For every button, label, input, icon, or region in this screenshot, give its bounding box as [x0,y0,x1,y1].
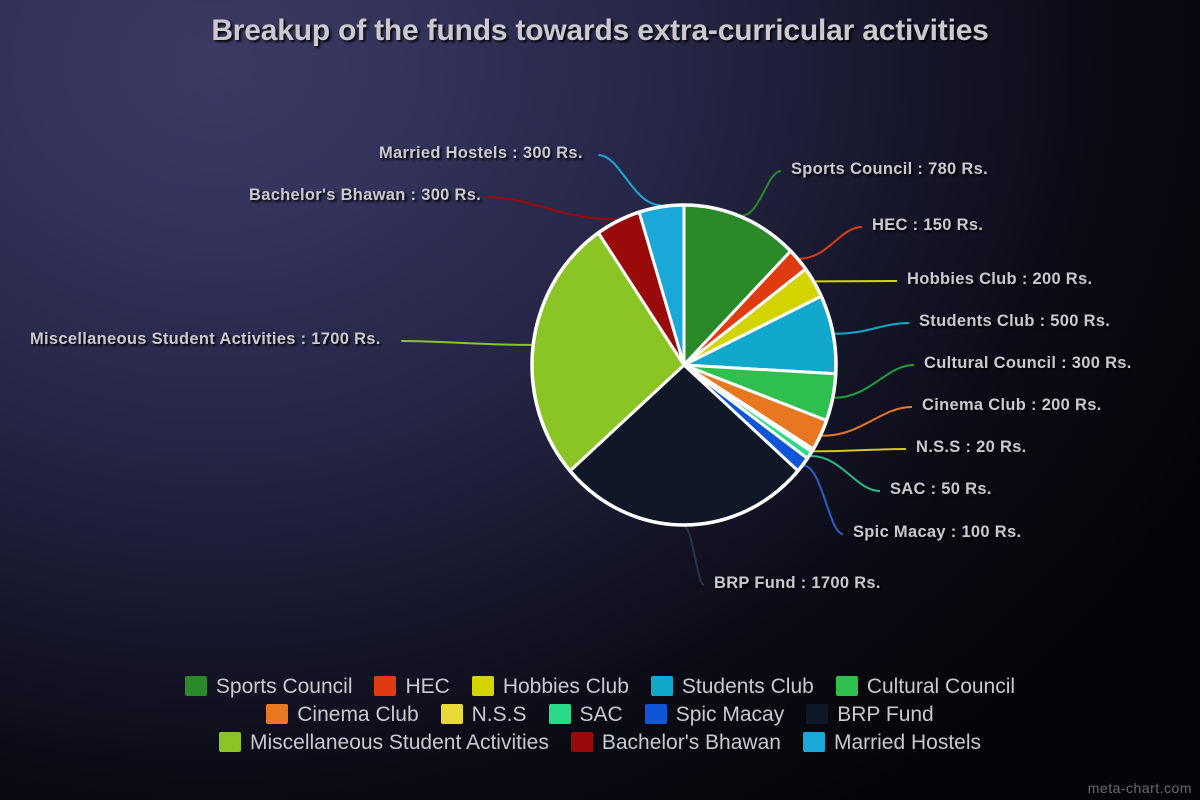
leader-line-sports-council [742,171,781,216]
legend-item-students-club[interactable]: Students Club [651,676,814,697]
legend-swatch-icon [441,704,463,724]
leader-line-cinema-club [822,407,912,436]
legend-item-brp-fund[interactable]: BRP Fund [806,704,934,725]
leader-line-bachelors-bhawan [485,197,617,219]
legend-item-married-hostels[interactable]: Married Hostels [803,732,981,753]
leader-line-cultural-council [834,365,914,398]
legend-item-label: Hobbies Club [503,676,629,697]
leader-line-students-club [835,323,909,334]
watermark: meta-chart.com [1088,780,1192,796]
legend-swatch-icon [645,704,667,724]
legend-item-label: Cultural Council [867,676,1015,697]
leader-line-sac [811,456,880,491]
legend-item-label: HEC [405,676,449,697]
data-label-bachelors-bhawan: Bachelor's Bhawan : 300 Rs. [249,186,481,205]
legend-item-sac[interactable]: SAC [549,704,623,725]
legend-row: Miscellaneous Student ActivitiesBachelor… [0,728,1200,756]
legend-item-label: Married Hostels [834,732,981,753]
legend-swatch-icon [219,732,241,752]
legend-item-label: Students Club [682,676,814,697]
legend-item-bachelor-s-bhawan[interactable]: Bachelor's Bhawan [571,732,781,753]
legend-item-sports-council[interactable]: Sports Council [185,676,353,697]
data-label-spic-macay: Spic Macay : 100 Rs. [853,523,1021,542]
legend-swatch-icon [803,732,825,752]
leader-line-nss [814,449,906,451]
legend-item-spic-macay[interactable]: Spic Macay [645,704,785,725]
legend-item-cinema-club[interactable]: Cinema Club [266,704,418,725]
leader-line-married-hostels [598,155,661,205]
legend-item-label: Bachelor's Bhawan [602,732,781,753]
leader-line-hec [800,227,862,259]
legend-item-label: SAC [580,704,623,725]
data-label-cinema-club: Cinema Club : 200 Rs. [922,396,1102,415]
legend-row: Cinema ClubN.S.SSACSpic MacayBRP Fund [0,700,1200,728]
data-label-hobbies-club: Hobbies Club : 200 Rs. [907,270,1092,289]
leader-line-misc-activities [401,341,531,345]
legend-swatch-icon [185,676,207,696]
legend-item-label: N.S.S [472,704,527,725]
data-label-cultural-council: Cultural Council : 300 Rs. [924,354,1132,373]
leader-line-spic-macay [804,466,843,534]
legend-swatch-icon [571,732,593,752]
legend-row: Sports CouncilHECHobbies ClubStudents Cl… [0,672,1200,700]
legend-item-label: Sports Council [216,676,353,697]
data-label-married-hostels: Married Hostels : 300 Rs. [379,144,583,163]
pie-chart-figure: Breakup of the funds towards extra-curri… [0,0,1200,800]
legend-swatch-icon [836,676,858,696]
legend-swatch-icon [266,704,288,724]
legend-swatch-icon [374,676,396,696]
data-label-hec: HEC : 150 Rs. [872,216,983,235]
data-label-brp-fund: BRP Fund : 1700 Rs. [714,574,881,593]
legend-item-n-s-s[interactable]: N.S.S [441,704,527,725]
legend-swatch-icon [472,676,494,696]
legend-item-label: Miscellaneous Student Activities [250,732,549,753]
data-label-sports-council: Sports Council : 780 Rs. [791,160,988,179]
legend-item-label: Spic Macay [676,704,785,725]
data-label-students-club: Students Club : 500 Rs. [919,312,1110,331]
legend-item-hobbies-club[interactable]: Hobbies Club [472,676,629,697]
data-label-sac: SAC : 50 Rs. [890,480,992,499]
legend-item-hec[interactable]: HEC [374,676,449,697]
leader-line-brp-fund [684,527,704,585]
legend-item-label: Cinema Club [297,704,418,725]
data-label-misc-activities: Miscellaneous Student Activities : 1700 … [30,330,381,349]
legend: Sports CouncilHECHobbies ClubStudents Cl… [0,672,1200,756]
legend-swatch-icon [651,676,673,696]
legend-item-miscellaneous-student-activities[interactable]: Miscellaneous Student Activities [219,732,549,753]
legend-swatch-icon [806,704,828,724]
legend-item-cultural-council[interactable]: Cultural Council [836,676,1015,697]
data-label-nss: N.S.S : 20 Rs. [916,438,1027,457]
legend-item-label: BRP Fund [837,704,934,725]
legend-swatch-icon [549,704,571,724]
